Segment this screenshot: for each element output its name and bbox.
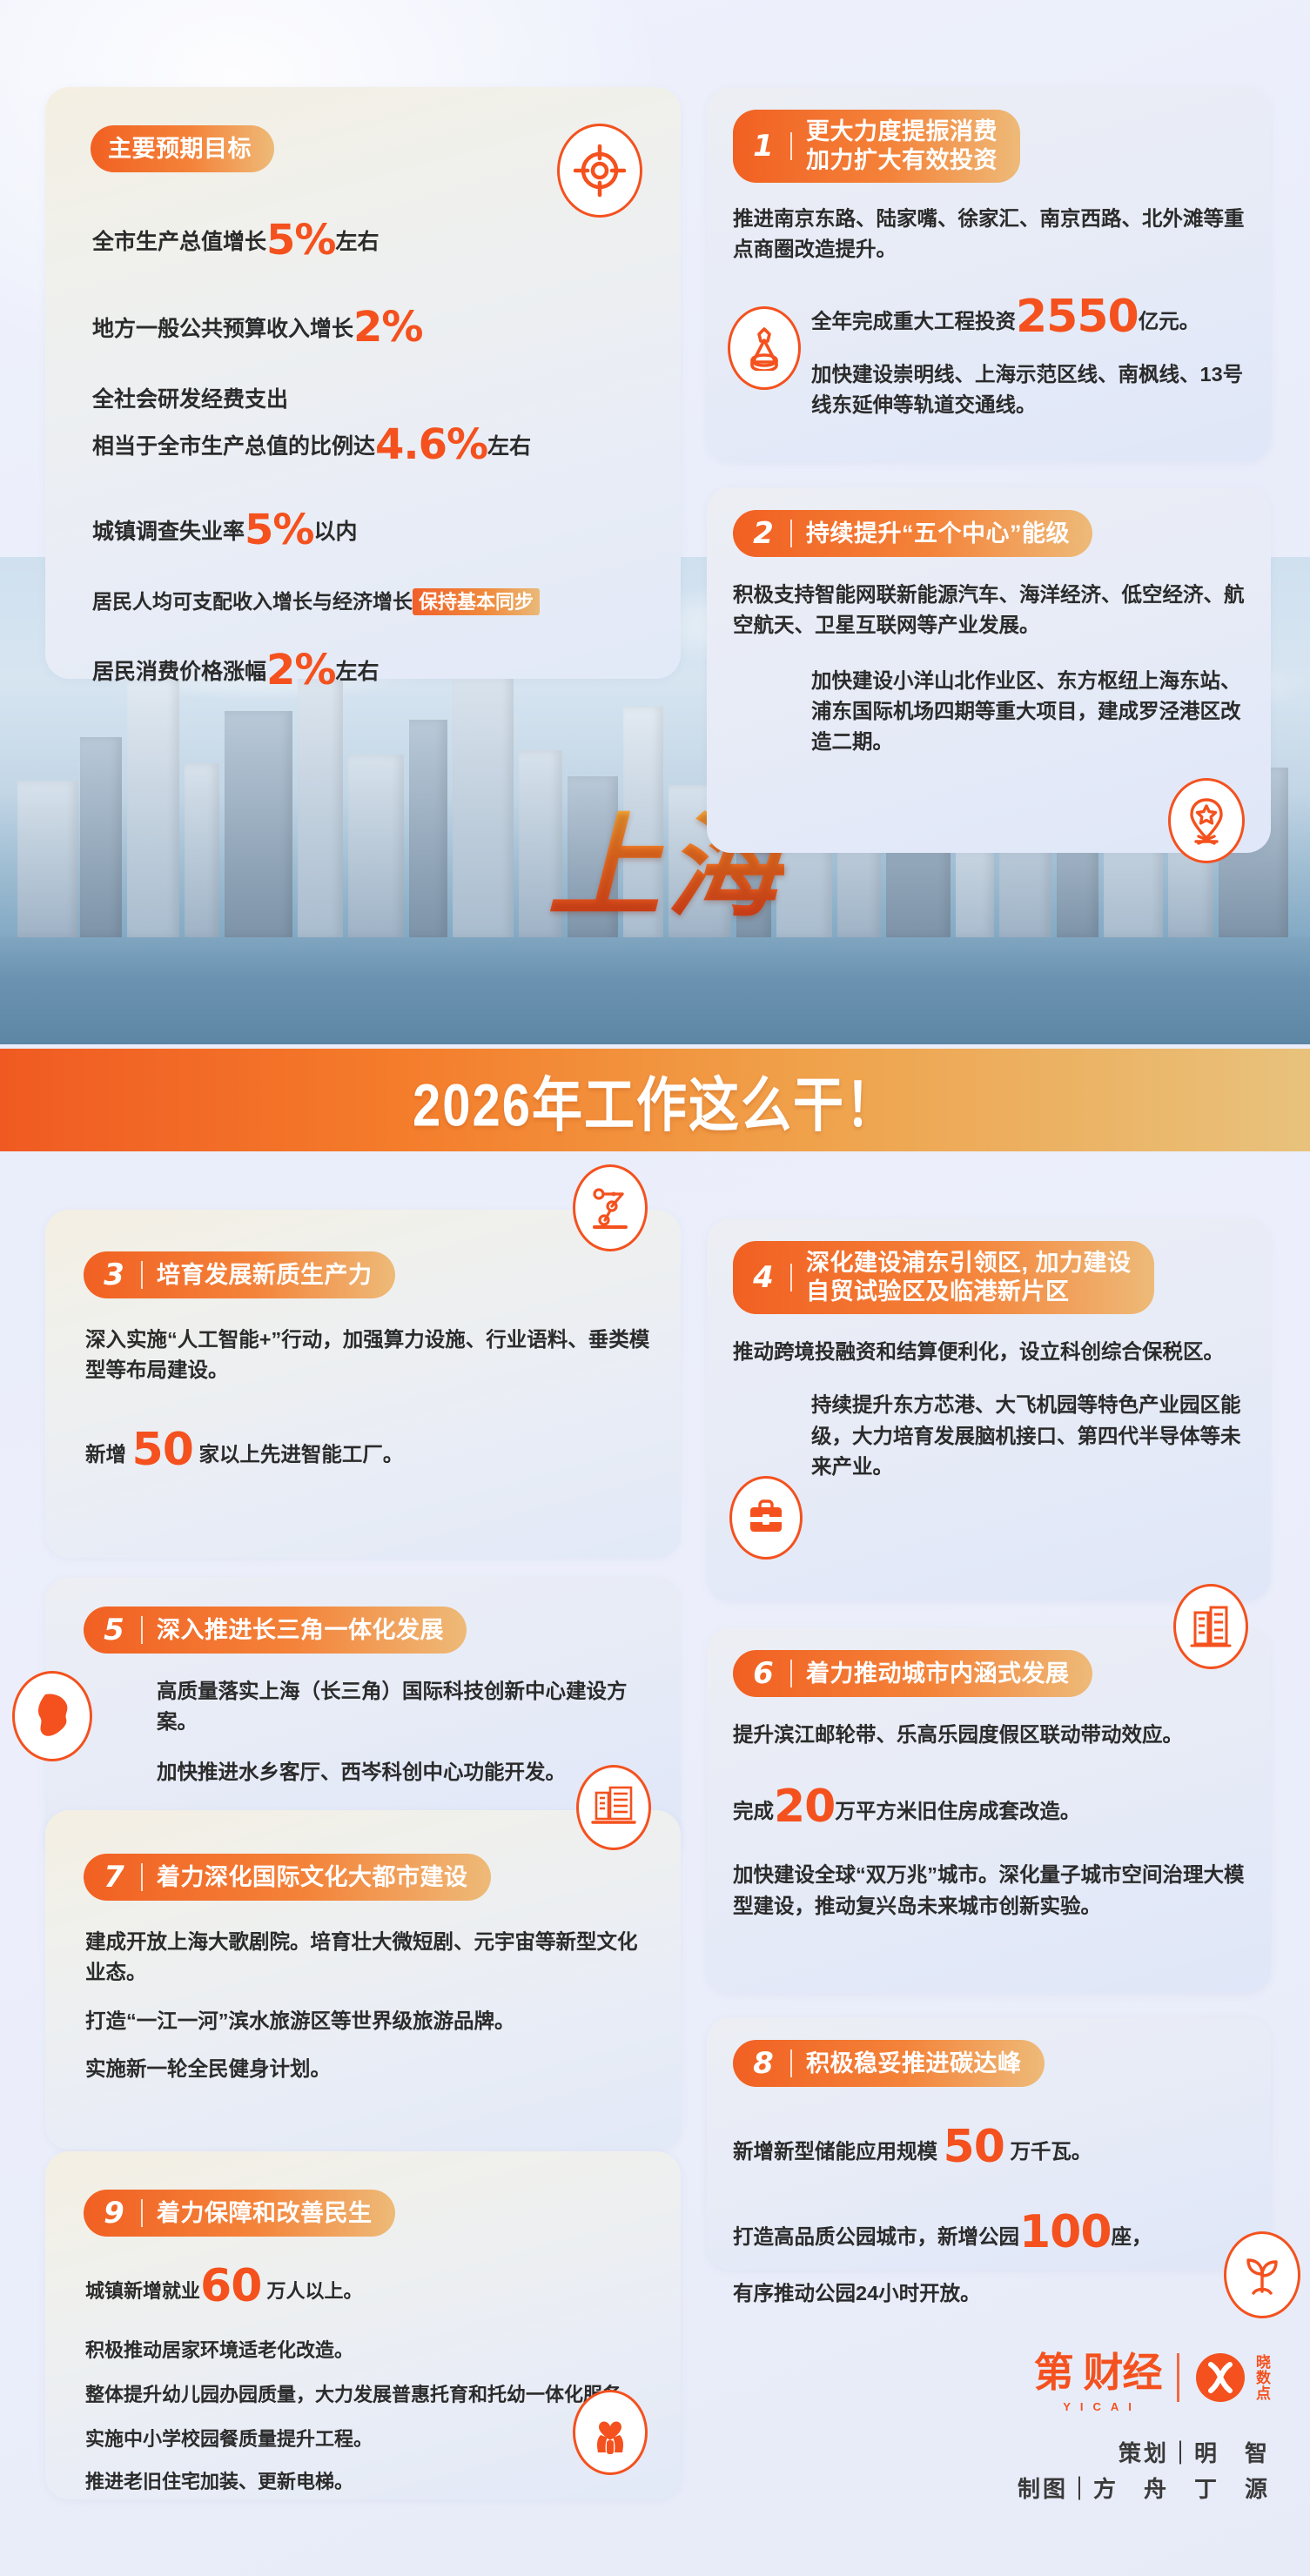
section-2-pill: 2 持续提升“五个中心”能级 <box>733 510 1092 557</box>
section-4-title: 深化建设浦东引领区, 加力建设 自贸试验区及临港新片区 <box>806 1249 1132 1306</box>
section-2-para-2: 加快建设小洋山北作业区、东方枢纽上海东站、浦东国际机场四期等重大项目，建成罗泾港… <box>811 666 1245 758</box>
card-section-7: 7 着力深化国际文化大都市建设 建成开放上海大歌剧院。培育壮大微短剧、元宇宙等新… <box>45 1810 681 2150</box>
section-3-para-2: 新增 50 家以上先进智能工厂。 <box>85 1416 655 1484</box>
section-1-number: 1 <box>750 129 776 164</box>
goal-suffix: 左右 <box>487 434 531 459</box>
section-9-para-5: 推进老旧住宅加装、更新电梯。 <box>85 2467 655 2496</box>
goal-text-line1: 全社会研发经费支出 <box>92 384 655 415</box>
goal-text: 居民消费价格涨幅 <box>92 660 266 684</box>
section-3-title: 培育发展新质生产力 <box>157 1261 373 1290</box>
money-bag-icon <box>728 306 801 390</box>
section-3-pill: 3 培育发展新质生产力 <box>84 1251 395 1298</box>
section-3-para-1: 深入实施“人工智能+”行动，加强算力设施、行业语料、垂类模型等布局建设。 <box>85 1325 655 1386</box>
section-1-pill: 1 更大力度提振消费 加力扩大有效投资 <box>733 110 1020 183</box>
section-4-pill: 4 深化建设浦东引领区, 加力建设 自贸试验区及临港新片区 <box>733 1241 1154 1314</box>
yicai-logo-cn: 第 财经 <box>1034 2341 1162 2398</box>
hands-heart-icon <box>573 2390 648 2475</box>
section-1-title: 更大力度提振消费 加力扩大有效投资 <box>806 117 998 175</box>
section-8-para-3: 有序推动公园24小时开放。 <box>733 2278 1245 2309</box>
section-6-para-2: 完成20万平方米旧住房成套改造。 <box>733 1773 1245 1841</box>
credit-designer: 制图｜方 舟 丁 源 <box>1018 2472 1270 2506</box>
section-1-para-2: 全年完成重大工程投资2550亿元。 <box>811 283 1245 351</box>
location-pin-star-icon <box>1168 778 1245 863</box>
section-9-number: 9 <box>101 2196 127 2231</box>
section-7-number: 7 <box>101 1860 127 1895</box>
logo-divider <box>1177 2353 1179 2402</box>
section-9-title: 着力保障和改善民生 <box>157 2199 373 2228</box>
xiaoshudian-mark-icon <box>1195 2352 1246 2403</box>
sprout-icon <box>1224 2231 1300 2318</box>
section-9-para-3: 整体提升幼儿园办园质量，大力发展普惠托育和托幼一体化服务。 <box>85 2380 642 2409</box>
river-layer <box>0 937 1310 1044</box>
section-6-title: 着力推动城市内涵式发展 <box>806 1660 1070 1688</box>
pill-divider <box>790 132 792 160</box>
credit-planner: 策划｜明 智 <box>1018 2436 1270 2471</box>
goals-pill-title: 主要预期目标 <box>108 135 252 164</box>
section-2-para-1: 积极支持智能网联新能源汽车、海洋经济、低空经济、航空航天、卫星互联网等产业发展。 <box>733 580 1245 641</box>
section-6-para-3: 加快建设全球“双万兆”城市。深化量子城市空间治理大模型建设，推动复兴岛未来城市创… <box>733 1860 1245 1922</box>
card-section-9: 9 着力保障和改善民生 城镇新增就业60 万人以上。 积极推动居家环境适老化改造… <box>45 2151 681 2499</box>
section-9-para-2: 积极推动居家环境适老化改造。 <box>85 2336 655 2365</box>
section-8-number: 8 <box>750 2046 776 2081</box>
goal-text: 地方一般公共预算收入增长 <box>92 317 353 341</box>
card-section-6: 6 着力推动城市内涵式发展 提升滨江邮轮带、乐高乐园度假区联动带动效应。 完成2… <box>707 1627 1271 1993</box>
section-6-pill: 6 着力推动城市内涵式发展 <box>733 1650 1092 1697</box>
pill-divider <box>141 1261 143 1289</box>
section-6-value: 20 <box>774 1781 835 1833</box>
goal-value: 2% <box>353 303 423 352</box>
goal-text: 居民人均可支配收入增长与经济增长 <box>92 590 413 613</box>
pill-divider <box>141 1616 143 1644</box>
card-section-3: 3 培育发展新质生产力 深入实施“人工智能+”行动，加强算力设施、行业语料、垂类… <box>45 1210 681 1558</box>
goal-value: 2% <box>266 646 336 694</box>
goal-row: 全社会研发经费支出 相当于全市生产总值的比例达4.6%左右 <box>92 384 655 476</box>
card-section-4: 4 深化建设浦东引领区, 加力建设 自贸试验区及临港新片区 推动跨境投融资和结算… <box>707 1218 1271 1601</box>
year-banner: 2026年工作这么干！ <box>0 1049 1310 1151</box>
section-1-value: 2550 <box>1016 291 1139 343</box>
section-8-para-2: 打造高品质公园城市，新增公园100座， <box>733 2198 1245 2266</box>
section-9-value: 60 <box>200 2260 261 2312</box>
section-8-pill: 8 积极稳妥推进碳达峰 <box>733 2040 1045 2087</box>
section-7-para-3: 实施新一轮全民健身计划。 <box>85 2054 655 2084</box>
card-main-goals: 主要预期目标 全市生产总值增长5%左右 地方一般公共预算收入增长2% 全社会研发… <box>45 87 681 679</box>
pill-divider <box>790 1660 792 1687</box>
banner-title: 2026年工作这么干！ <box>413 1057 897 1143</box>
opera-house-icon <box>576 1765 651 1850</box>
section-5-number: 5 <box>101 1613 127 1647</box>
section-3-value: 50 <box>132 1424 193 1476</box>
section-4-number: 4 <box>750 1260 776 1295</box>
goal-text: 全市生产总值增长 <box>92 230 266 254</box>
section-7-para-1: 建成开放上海大歌剧院。培育壮大微短剧、元宇宙等新型文化业态。 <box>85 1927 655 1989</box>
goal-row: 地方一般公共预算收入增长2% <box>92 298 655 359</box>
section-8-value-2: 100 <box>1019 2206 1112 2258</box>
yicai-logo: 第 财经 YICAI <box>1034 2341 1162 2413</box>
briefcase-icon <box>729 1476 803 1560</box>
card-section-1: 1 更大力度提振消费 加力扩大有效投资 推进南京东路、陆家嘴、徐家汇、南京西路、… <box>707 87 1271 461</box>
pill-divider <box>790 520 792 547</box>
section-6-number: 6 <box>750 1656 776 1691</box>
goal-value: 5% <box>266 216 336 265</box>
xiaoshudian-name: 晓数点 <box>1253 2354 1270 2401</box>
section-5-pill: 5 深入推进长三角一体化发展 <box>84 1607 467 1654</box>
card-section-2: 2 持续提升“五个中心”能级 积极支持智能网联新能源汽车、海洋经济、低空经济、航… <box>707 487 1271 853</box>
goal-suffix: 左右 <box>336 660 380 684</box>
goal-suffix: 以内 <box>314 520 358 544</box>
infographic-page: 上海 2026年工作这么干！ 主要预期目标 全市生产总值增长5%左右 地方一般公… <box>0 0 1310 2576</box>
goal-row: 居民消费价格涨幅2%左右 <box>92 641 655 701</box>
pill-divider <box>141 1863 143 1891</box>
yicai-logo-en: YICAI <box>1063 2400 1141 2413</box>
pill-divider <box>790 1264 792 1291</box>
target-icon <box>557 124 642 218</box>
pill-divider <box>141 2199 143 2227</box>
section-7-pill: 7 着力深化国际文化大都市建设 <box>84 1854 491 1901</box>
logo-row: 第 财经 YICAI 晓数点 <box>1018 2341 1270 2413</box>
goal-row: 居民人均可支配收入增长与经济增长保持基本同步 <box>92 587 655 616</box>
section-5-para-2: 加快推进水乡客厅、西岑科创中心功能开发。 <box>157 1757 655 1788</box>
pill-divider <box>790 2049 792 2077</box>
goal-highlight-badge: 保持基本同步 <box>413 588 540 615</box>
section-9-para-4: 实施中小学校园餐质量提升工程。 <box>85 2425 655 2453</box>
goal-value: 4.6% <box>375 420 487 469</box>
section-9-para-1: 城镇新增就业60 万人以上。 <box>85 2252 655 2320</box>
section-2-number: 2 <box>750 516 776 551</box>
section-9-pill: 9 着力保障和改善民生 <box>84 2190 395 2237</box>
goal-value: 5% <box>245 506 314 554</box>
section-3-number: 3 <box>101 1258 127 1292</box>
section-8-title: 积极稳妥推进碳达峰 <box>806 2049 1022 2078</box>
section-8-value-1: 50 <box>944 2121 1004 2173</box>
xiaoshudian-logo: 晓数点 <box>1195 2352 1270 2403</box>
section-5-title: 深入推进长三角一体化发展 <box>157 1616 444 1645</box>
goal-row: 城镇调查失业率5%以内 <box>92 500 655 561</box>
goal-text: 相当于全市生产总值的比例达 <box>92 434 375 459</box>
section-1-para-1: 推进南京东路、陆家嘴、徐家汇、南京西路、北外滩等重点商圈改造提升。 <box>733 204 1245 265</box>
section-1-para-3: 加快建设崇明线、上海示范区线、南枫线、13号线东延伸等轨道交通线。 <box>811 359 1245 421</box>
robot-arm-icon <box>573 1164 648 1251</box>
section-5-para-1: 高质量落实上海（长三角）国际科技创新中心建设方案。 <box>157 1676 655 1738</box>
section-7-para-2: 打造“一江一河”滨水旅游区等世界级旅游品牌。 <box>85 2006 655 2036</box>
section-6-para-1: 提升滨江邮轮带、乐高乐园度假区联动带动效应。 <box>733 1720 1245 1750</box>
goals-pill: 主要预期目标 <box>91 125 274 172</box>
section-2-title: 持续提升“五个中心”能级 <box>806 520 1070 548</box>
section-4-para-2: 持续提升东方芯港、大飞机园等特色产业园区能级，大力培育发展脑机接口、第四代半导体… <box>811 1390 1245 1482</box>
footer-credits-block: 第 财经 YICAI 晓数点 策划｜明 智 制图｜方 舟 丁 源 <box>1018 2341 1270 2506</box>
section-7-title: 着力深化国际文化大都市建设 <box>157 1863 468 1892</box>
card-section-8: 8 积极稳妥推进碳达峰 新增新型储能应用规模 50 万千瓦。 打造高品质公园城市… <box>707 2017 1271 2270</box>
section-8-para-1: 新增新型储能应用规模 50 万千瓦。 <box>733 2113 1245 2181</box>
buildings-icon <box>1173 1584 1248 1669</box>
section-4-para-1: 推动跨境投融资和结算便利化，设立科创综合保税区。 <box>733 1337 1245 1367</box>
goal-text: 城镇调查失业率 <box>92 520 245 544</box>
yangtze-delta-map-icon <box>12 1671 92 1761</box>
goal-suffix: 左右 <box>336 230 380 254</box>
goal-row: 全市生产总值增长5%左右 <box>92 211 655 272</box>
